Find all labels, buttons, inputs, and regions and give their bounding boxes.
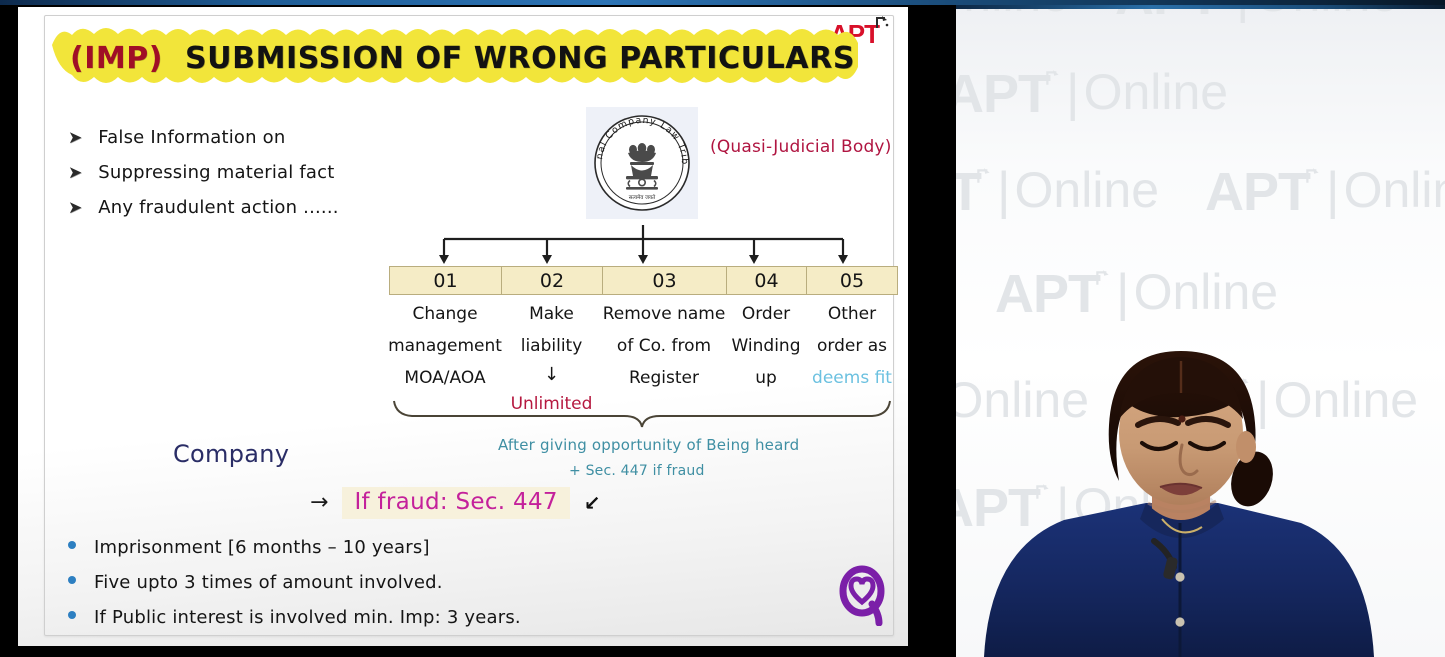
column-line: Other	[828, 299, 876, 329]
column-line-deems-fit: deems fit	[812, 363, 892, 393]
watermark-online: Online	[1344, 165, 1445, 215]
arrow-bullet-icon: ➤	[68, 200, 82, 217]
watermark-apt: APT	[1205, 165, 1310, 219]
watermark-bar: |	[1116, 267, 1130, 319]
list-item: Five upto 3 times of amount involved.	[68, 572, 708, 607]
watermark-apt: APT	[956, 67, 1050, 121]
nclt-emblem-icon: National Company Law Tribunal	[590, 111, 694, 215]
number-box: 02	[501, 266, 602, 295]
q-heart-icon	[836, 564, 892, 626]
list-item-label: Suppressing material fact	[98, 162, 334, 183]
list-item: ➤ False Information on	[68, 127, 448, 162]
watermark-unit: APT | Online	[995, 267, 1278, 321]
watermark-unit: APT | Online	[956, 67, 1228, 121]
watermark-row: APT | Online APT | Online	[956, 67, 1228, 121]
column-line: Register	[629, 363, 699, 393]
right-arrow-icon: →	[310, 492, 328, 514]
list-item: If Public interest is involved min. Imp:…	[68, 607, 708, 642]
watermark-bar: |	[997, 165, 1011, 217]
list-item-label: Five upto 3 times of amount involved.	[94, 572, 443, 593]
list-item-label: Imprisonment [6 months – 10 years]	[94, 537, 430, 558]
column-line: up	[755, 363, 777, 393]
flag-tick-icon	[874, 15, 890, 31]
column-line: Make	[529, 299, 574, 329]
instructor-video-panel: APT | Online APT | Online	[956, 5, 1445, 657]
penalty-bullet-list: Imprisonment [6 months – 10 years] Five …	[68, 537, 708, 642]
number-box: 05	[806, 266, 898, 295]
number-box: 01	[389, 266, 501, 295]
slide-title-block: (IMP) SUBMISSION OF WRONG PARTICULARS	[42, 19, 872, 97]
dot-bullet-icon	[68, 576, 76, 584]
arrow-bullet-icon: ➤	[68, 165, 82, 182]
slide-title: SUBMISSION OF WRONG PARTICULARS	[185, 41, 855, 76]
screen-recording-frame: APT (IMP) SUBMISSION OF WRONG PARTICULAR…	[0, 0, 1445, 657]
annotation-line-2: + Sec. 447 if fraud	[569, 463, 705, 479]
list-item: Imprisonment [6 months – 10 years]	[68, 537, 708, 572]
panel-divider	[918, 5, 956, 657]
dot-bullet-icon	[68, 541, 76, 549]
column-line: Order	[742, 299, 790, 329]
southwest-arrow-icon: ↙	[584, 493, 601, 513]
annotation-line-1: After giving opportunity of Being heard	[498, 436, 799, 454]
fraud-callout-row: → If fraud: Sec. 447 ↙	[310, 487, 601, 519]
company-label: Company	[173, 440, 289, 468]
slide-title-row: (IMP) SUBMISSION OF WRONG PARTICULARS	[70, 41, 855, 76]
watermark-unit: APT | Online	[956, 165, 1159, 219]
watermark-online: Online	[1084, 67, 1229, 117]
list-item-label: Any fraudulent action ......	[98, 197, 338, 218]
list-item: ➤ Suppressing material fact	[68, 162, 448, 197]
list-item-label: False Information on	[98, 127, 285, 148]
column-line: of Co. from	[617, 331, 711, 361]
title-imp-tag: (IMP)	[70, 41, 163, 76]
watermark-online: Online	[1015, 165, 1160, 215]
watermark-row: APT | Online APT | Online	[956, 267, 1278, 321]
curly-brace-icon	[392, 399, 892, 429]
slide-container: APT (IMP) SUBMISSION OF WRONG PARTICULAR…	[8, 5, 918, 653]
column-line: order as	[817, 331, 887, 361]
numbered-box-row: 01 02 03 04 05	[389, 266, 898, 295]
branch-connector-diagram	[388, 225, 898, 271]
fraud-section-chip: If fraud: Sec. 447	[342, 487, 569, 519]
flag-tick-icon	[1044, 69, 1062, 87]
flag-tick-icon	[1304, 167, 1322, 185]
quasi-judicial-label: (Quasi-Judicial Body)	[710, 137, 892, 157]
column-line: management	[388, 331, 502, 361]
column-line: Change	[412, 299, 477, 329]
flag-tick-icon	[1094, 269, 1112, 287]
column-line: liability	[521, 331, 583, 361]
video-top-accent	[956, 5, 1445, 9]
dot-bullet-icon	[68, 611, 76, 619]
nclt-seal-container: National Company Law Tribunal	[586, 107, 698, 219]
column-line: MOA/AOA	[404, 363, 485, 393]
watermark-bar: |	[1066, 67, 1080, 119]
flag-tick-icon	[975, 167, 993, 185]
watermark-bar: |	[1326, 165, 1340, 217]
watermark-apt: APT	[995, 267, 1100, 321]
column-line: Winding	[731, 331, 800, 361]
presenter-figure	[956, 327, 1445, 657]
watermark-unit: APT | Online	[1205, 165, 1445, 219]
watermark-online: Online	[1134, 267, 1279, 317]
arrow-bullet-icon: ➤	[68, 130, 82, 147]
slide-canvas: APT (IMP) SUBMISSION OF WRONG PARTICULAR…	[18, 7, 908, 646]
number-box: 03	[602, 266, 726, 295]
column-line: Remove name	[603, 299, 726, 329]
list-item-label: If Public interest is involved min. Imp:…	[94, 607, 521, 628]
watermark-row: APT | Online APT | Online	[956, 165, 1445, 219]
intro-bullet-list: ➤ False Information on ➤ Suppressing mat…	[68, 127, 448, 232]
down-arrow-icon: ↓	[544, 363, 559, 387]
svg-text:सत्यमेव जयते: सत्यमेव जयते	[629, 194, 656, 201]
number-box: 04	[726, 266, 806, 295]
